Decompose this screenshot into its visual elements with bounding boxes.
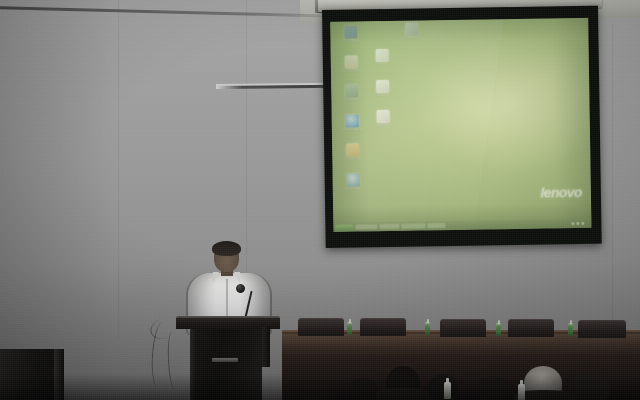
network-icon[interactable] [576,222,579,225]
water-bottle [496,323,501,336]
water-bottle [347,322,352,335]
water-bottle [568,323,573,336]
water-bottle [425,322,430,335]
system-tray[interactable] [571,222,589,225]
chair-back [360,318,406,336]
wall-shadow [0,0,120,400]
taskbar-window-button[interactable] [401,223,425,228]
lectern-top-edge [176,316,280,318]
chair-back [298,318,344,336]
shield-icon[interactable] [581,222,584,225]
projected-desktop-surface: My Computer My Documents Recycle Bin Int… [330,18,591,232]
wall-seam [612,24,613,324]
screen-black-border: My Computer My Documents Recycle Bin Int… [322,6,602,248]
lectern-plaque [212,358,238,362]
volume-icon[interactable] [571,222,574,225]
presenter-hair [212,241,241,256]
lenovo-watermark: lenovo [540,184,582,201]
chair-back [578,320,626,338]
microphone-head-icon [236,284,245,293]
taskbar-window-button[interactable] [427,223,445,228]
conference-hall-photo: My Computer My Documents Recycle Bin Int… [0,0,640,400]
foreground-shadow [0,374,640,400]
pull-down-projection-screen: My Computer My Documents Recycle Bin Int… [322,6,602,248]
chair-back [440,319,486,337]
taskbar-window-button[interactable] [379,224,399,229]
lectern-side-panel [262,327,270,367]
start-button[interactable] [335,224,353,230]
chair-back [508,319,554,337]
taskbar-window-button[interactable] [355,224,377,229]
